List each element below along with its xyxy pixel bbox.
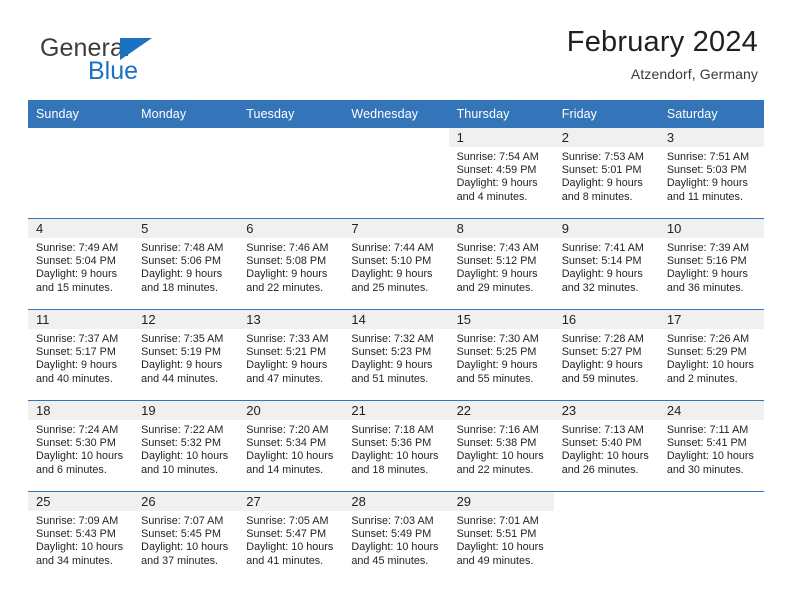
daylight-text-line2: and 22 minutes.	[457, 464, 548, 477]
day-details: Sunrise: 7:51 AMSunset: 5:03 PMDaylight:…	[659, 147, 764, 204]
calendar-day-cell[interactable]: 28Sunrise: 7:03 AMSunset: 5:49 PMDayligh…	[343, 492, 448, 582]
daylight-text-line1: Daylight: 10 hours	[351, 450, 442, 463]
day-number-band	[554, 128, 659, 147]
day-number: 13	[246, 312, 260, 328]
daylight-text-line1: Daylight: 10 hours	[246, 450, 337, 463]
sunset-text: Sunset: 5:43 PM	[36, 528, 127, 541]
day-number: 22	[457, 403, 471, 419]
calendar-day-cell[interactable]: 29Sunrise: 7:01 AMSunset: 5:51 PMDayligh…	[449, 492, 554, 582]
daylight-text-line1: Daylight: 9 hours	[457, 177, 548, 190]
sunrise-text: Sunrise: 7:46 AM	[246, 242, 337, 255]
sunset-text: Sunset: 5:41 PM	[667, 437, 758, 450]
daylight-text-line2: and 40 minutes.	[36, 373, 127, 386]
day-details: Sunrise: 7:20 AMSunset: 5:34 PMDaylight:…	[238, 420, 343, 477]
day-number-band	[133, 128, 238, 147]
day-details: Sunrise: 7:48 AMSunset: 5:06 PMDaylight:…	[133, 238, 238, 295]
calendar-week-row: 18Sunrise: 7:24 AMSunset: 5:30 PMDayligh…	[28, 400, 764, 491]
daylight-text-line1: Daylight: 10 hours	[667, 450, 758, 463]
day-details: Sunrise: 7:22 AMSunset: 5:32 PMDaylight:…	[133, 420, 238, 477]
day-details: Sunrise: 7:09 AMSunset: 5:43 PMDaylight:…	[28, 511, 133, 568]
day-number: 1	[457, 130, 464, 146]
sunset-text: Sunset: 5:06 PM	[141, 255, 232, 268]
calendar-grid: Sunday Monday Tuesday Wednesday Thursday…	[28, 100, 764, 582]
day-number: 7	[351, 221, 358, 237]
daylight-text-line2: and 26 minutes.	[562, 464, 653, 477]
sunrise-text: Sunrise: 7:18 AM	[351, 424, 442, 437]
daylight-text-line2: and 55 minutes.	[457, 373, 548, 386]
daylight-text-line1: Daylight: 9 hours	[36, 359, 127, 372]
sunrise-text: Sunrise: 7:03 AM	[351, 515, 442, 528]
day-number: 15	[457, 312, 471, 328]
sunrise-text: Sunrise: 7:05 AM	[246, 515, 337, 528]
day-number: 14	[351, 312, 365, 328]
day-details: Sunrise: 7:18 AMSunset: 5:36 PMDaylight:…	[343, 420, 448, 477]
daylight-text-line2: and 15 minutes.	[36, 282, 127, 295]
daylight-text-line2: and 34 minutes.	[36, 555, 127, 568]
day-details: Sunrise: 7:46 AMSunset: 5:08 PMDaylight:…	[238, 238, 343, 295]
daylight-text-line1: Daylight: 9 hours	[141, 268, 232, 281]
sunset-text: Sunset: 4:59 PM	[457, 164, 548, 177]
daylight-text-line2: and 2 minutes.	[667, 373, 758, 386]
daylight-text-line1: Daylight: 9 hours	[667, 177, 758, 190]
sunset-text: Sunset: 5:45 PM	[141, 528, 232, 541]
day-details: Sunrise: 7:43 AMSunset: 5:12 PMDaylight:…	[449, 238, 554, 295]
daylight-text-line2: and 41 minutes.	[246, 555, 337, 568]
day-details: Sunrise: 7:33 AMSunset: 5:21 PMDaylight:…	[238, 329, 343, 386]
daylight-text-line2: and 14 minutes.	[246, 464, 337, 477]
sunrise-text: Sunrise: 7:37 AM	[36, 333, 127, 346]
calendar-day-cell[interactable]: 21Sunrise: 7:18 AMSunset: 5:36 PMDayligh…	[343, 401, 448, 491]
calendar-day-cell[interactable]: 2Sunrise: 7:53 AMSunset: 5:01 PMDaylight…	[554, 128, 659, 218]
daylight-text-line1: Daylight: 10 hours	[562, 450, 653, 463]
daylight-text-line1: Daylight: 9 hours	[562, 268, 653, 281]
daylight-text-line1: Daylight: 10 hours	[457, 541, 548, 554]
day-details: Sunrise: 7:35 AMSunset: 5:19 PMDaylight:…	[133, 329, 238, 386]
sunset-text: Sunset: 5:36 PM	[351, 437, 442, 450]
day-number: 19	[141, 403, 155, 419]
daylight-text-line1: Daylight: 10 hours	[457, 450, 548, 463]
day-number-band	[554, 219, 659, 238]
daylight-text-line2: and 44 minutes.	[141, 373, 232, 386]
day-number: 24	[667, 403, 681, 419]
day-details: Sunrise: 7:41 AMSunset: 5:14 PMDaylight:…	[554, 238, 659, 295]
calendar-cell-empty	[238, 128, 343, 218]
sunrise-text: Sunrise: 7:41 AM	[562, 242, 653, 255]
calendar-day-cell[interactable]: 4Sunrise: 7:49 AMSunset: 5:04 PMDaylight…	[28, 219, 133, 309]
sunset-text: Sunset: 5:47 PM	[246, 528, 337, 541]
calendar-day-cell[interactable]: 26Sunrise: 7:07 AMSunset: 5:45 PMDayligh…	[133, 492, 238, 582]
calendar-day-cell[interactable]: 23Sunrise: 7:13 AMSunset: 5:40 PMDayligh…	[554, 401, 659, 491]
day-number: 26	[141, 494, 155, 510]
day-number-band	[238, 128, 343, 147]
logo-word-blue: Blue	[88, 59, 138, 84]
sunset-text: Sunset: 5:38 PM	[457, 437, 548, 450]
sunrise-text: Sunrise: 7:11 AM	[667, 424, 758, 437]
daylight-text-line1: Daylight: 9 hours	[141, 359, 232, 372]
daylight-text-line2: and 59 minutes.	[562, 373, 653, 386]
day-number: 29	[457, 494, 471, 510]
daylight-text-line1: Daylight: 9 hours	[246, 268, 337, 281]
daylight-text-line2: and 37 minutes.	[141, 555, 232, 568]
sunset-text: Sunset: 5:25 PM	[457, 346, 548, 359]
day-number: 4	[36, 221, 43, 237]
daylight-text-line1: Daylight: 9 hours	[36, 268, 127, 281]
calendar-cell-empty	[28, 128, 133, 218]
sunset-text: Sunset: 5:40 PM	[562, 437, 653, 450]
day-number-band	[133, 219, 238, 238]
daylight-text-line2: and 18 minutes.	[351, 464, 442, 477]
daylight-text-line1: Daylight: 9 hours	[457, 359, 548, 372]
sunrise-text: Sunrise: 7:01 AM	[457, 515, 548, 528]
calendar-day-cell[interactable]: 20Sunrise: 7:20 AMSunset: 5:34 PMDayligh…	[238, 401, 343, 491]
calendar-day-cell[interactable]: 9Sunrise: 7:41 AMSunset: 5:14 PMDaylight…	[554, 219, 659, 309]
page-subtitle: Atzendorf, Germany	[567, 66, 758, 82]
sunset-text: Sunset: 5:32 PM	[141, 437, 232, 450]
calendar-cell-empty	[133, 128, 238, 218]
day-number-band	[343, 128, 448, 147]
daylight-text-line2: and 29 minutes.	[457, 282, 548, 295]
day-details: Sunrise: 7:26 AMSunset: 5:29 PMDaylight:…	[659, 329, 764, 386]
day-details: Sunrise: 7:13 AMSunset: 5:40 PMDaylight:…	[554, 420, 659, 477]
sunset-text: Sunset: 5:49 PM	[351, 528, 442, 541]
calendar-day-cell[interactable]: 12Sunrise: 7:35 AMSunset: 5:19 PMDayligh…	[133, 310, 238, 400]
calendar-day-cell[interactable]: 27Sunrise: 7:05 AMSunset: 5:47 PMDayligh…	[238, 492, 343, 582]
sunset-text: Sunset: 5:29 PM	[667, 346, 758, 359]
sunrise-text: Sunrise: 7:49 AM	[36, 242, 127, 255]
sunset-text: Sunset: 5:30 PM	[36, 437, 127, 450]
daylight-text-line2: and 10 minutes.	[141, 464, 232, 477]
sunset-text: Sunset: 5:23 PM	[351, 346, 442, 359]
calendar-day-cell[interactable]: 6Sunrise: 7:46 AMSunset: 5:08 PMDaylight…	[238, 219, 343, 309]
daylight-text-line1: Daylight: 10 hours	[36, 450, 127, 463]
generalblue-logo[interactable]: General Blue	[28, 26, 218, 88]
calendar-week-row: 1Sunrise: 7:54 AMSunset: 4:59 PMDaylight…	[28, 128, 764, 218]
daylight-text-line2: and 6 minutes.	[36, 464, 127, 477]
day-details: Sunrise: 7:49 AMSunset: 5:04 PMDaylight:…	[28, 238, 133, 295]
day-details: Sunrise: 7:16 AMSunset: 5:38 PMDaylight:…	[449, 420, 554, 477]
daylight-text-line1: Daylight: 9 hours	[457, 268, 548, 281]
day-number: 21	[351, 403, 365, 419]
daylight-text-line1: Daylight: 10 hours	[36, 541, 127, 554]
calendar-week-row: 4Sunrise: 7:49 AMSunset: 5:04 PMDaylight…	[28, 218, 764, 309]
daylight-text-line1: Daylight: 10 hours	[667, 359, 758, 372]
calendar-week-row: 11Sunrise: 7:37 AMSunset: 5:17 PMDayligh…	[28, 309, 764, 400]
sunrise-text: Sunrise: 7:16 AM	[457, 424, 548, 437]
calendar-day-cell[interactable]: 5Sunrise: 7:48 AMSunset: 5:06 PMDaylight…	[133, 219, 238, 309]
day-number-band	[343, 219, 448, 238]
sunset-text: Sunset: 5:03 PM	[667, 164, 758, 177]
sunrise-text: Sunrise: 7:32 AM	[351, 333, 442, 346]
dow-tuesday: Tuesday	[238, 100, 343, 128]
daylight-text-line2: and 51 minutes.	[351, 373, 442, 386]
daylight-text-line1: Daylight: 9 hours	[246, 359, 337, 372]
sunset-text: Sunset: 5:17 PM	[36, 346, 127, 359]
daylight-text-line1: Daylight: 10 hours	[246, 541, 337, 554]
daylight-text-line1: Daylight: 10 hours	[141, 450, 232, 463]
day-of-week-header: Sunday Monday Tuesday Wednesday Thursday…	[28, 100, 764, 128]
calendar-day-cell[interactable]: 16Sunrise: 7:28 AMSunset: 5:27 PMDayligh…	[554, 310, 659, 400]
day-number-band	[28, 128, 133, 147]
sunset-text: Sunset: 5:51 PM	[457, 528, 548, 541]
daylight-text-line1: Daylight: 9 hours	[562, 359, 653, 372]
sunrise-text: Sunrise: 7:20 AM	[246, 424, 337, 437]
calendar-day-cell[interactable]: 14Sunrise: 7:32 AMSunset: 5:23 PMDayligh…	[343, 310, 448, 400]
calendar-day-cell[interactable]: 25Sunrise: 7:09 AMSunset: 5:43 PMDayligh…	[28, 492, 133, 582]
calendar-day-cell[interactable]: 15Sunrise: 7:30 AMSunset: 5:25 PMDayligh…	[449, 310, 554, 400]
daylight-text-line2: and 8 minutes.	[562, 191, 653, 204]
sunrise-text: Sunrise: 7:13 AM	[562, 424, 653, 437]
sunset-text: Sunset: 5:12 PM	[457, 255, 548, 268]
sunrise-text: Sunrise: 7:43 AM	[457, 242, 548, 255]
day-details: Sunrise: 7:07 AMSunset: 5:45 PMDaylight:…	[133, 511, 238, 568]
calendar-page: General Blue February 2024 Atzendorf, Ge…	[0, 0, 792, 612]
calendar-day-cell[interactable]: 24Sunrise: 7:11 AMSunset: 5:41 PMDayligh…	[659, 401, 764, 491]
daylight-text-line2: and 32 minutes.	[562, 282, 653, 295]
day-number: 17	[667, 312, 681, 328]
sunrise-text: Sunrise: 7:09 AM	[36, 515, 127, 528]
sunset-text: Sunset: 5:19 PM	[141, 346, 232, 359]
sunset-text: Sunset: 5:01 PM	[562, 164, 653, 177]
sunset-text: Sunset: 5:10 PM	[351, 255, 442, 268]
day-details: Sunrise: 7:05 AMSunset: 5:47 PMDaylight:…	[238, 511, 343, 568]
day-number: 23	[562, 403, 576, 419]
day-number: 18	[36, 403, 50, 419]
day-number: 11	[36, 312, 50, 328]
day-number: 2	[562, 130, 569, 146]
day-number: 28	[351, 494, 365, 510]
daylight-text-line2: and 30 minutes.	[667, 464, 758, 477]
calendar-week-row: 25Sunrise: 7:09 AMSunset: 5:43 PMDayligh…	[28, 491, 764, 582]
calendar-cell-empty	[659, 492, 764, 582]
day-number-band	[28, 219, 133, 238]
sunrise-text: Sunrise: 7:54 AM	[457, 151, 548, 164]
sunrise-text: Sunrise: 7:33 AM	[246, 333, 337, 346]
daylight-text-line2: and 18 minutes.	[141, 282, 232, 295]
sunrise-text: Sunrise: 7:51 AM	[667, 151, 758, 164]
sunrise-text: Sunrise: 7:35 AM	[141, 333, 232, 346]
title-block: February 2024 Atzendorf, Germany	[567, 26, 764, 82]
sunrise-text: Sunrise: 7:30 AM	[457, 333, 548, 346]
calendar-day-cell[interactable]: 19Sunrise: 7:22 AMSunset: 5:32 PMDayligh…	[133, 401, 238, 491]
day-number: 10	[667, 221, 681, 237]
day-number: 6	[246, 221, 253, 237]
sunrise-text: Sunrise: 7:44 AM	[351, 242, 442, 255]
sunset-text: Sunset: 5:14 PM	[562, 255, 653, 268]
day-details: Sunrise: 7:28 AMSunset: 5:27 PMDaylight:…	[554, 329, 659, 386]
sunrise-text: Sunrise: 7:48 AM	[141, 242, 232, 255]
day-number: 9	[562, 221, 569, 237]
dow-monday: Monday	[133, 100, 238, 128]
calendar-day-cell[interactable]: 1Sunrise: 7:54 AMSunset: 4:59 PMDaylight…	[449, 128, 554, 218]
daylight-text-line1: Daylight: 10 hours	[351, 541, 442, 554]
day-number: 16	[562, 312, 576, 328]
calendar-day-cell[interactable]: 3Sunrise: 7:51 AMSunset: 5:03 PMDaylight…	[659, 128, 764, 218]
day-details: Sunrise: 7:11 AMSunset: 5:41 PMDaylight:…	[659, 420, 764, 477]
dow-wednesday: Wednesday	[343, 100, 448, 128]
daylight-text-line1: Daylight: 10 hours	[141, 541, 232, 554]
dow-saturday: Saturday	[659, 100, 764, 128]
sunrise-text: Sunrise: 7:07 AM	[141, 515, 232, 528]
daylight-text-line2: and 22 minutes.	[246, 282, 337, 295]
sunrise-text: Sunrise: 7:26 AM	[667, 333, 758, 346]
calendar-day-cell[interactable]: 17Sunrise: 7:26 AMSunset: 5:29 PMDayligh…	[659, 310, 764, 400]
day-number: 25	[36, 494, 50, 510]
day-number-band	[659, 492, 764, 511]
calendar-day-cell[interactable]: 8Sunrise: 7:43 AMSunset: 5:12 PMDaylight…	[449, 219, 554, 309]
sunset-text: Sunset: 5:21 PM	[246, 346, 337, 359]
day-number-band	[238, 219, 343, 238]
calendar-day-cell[interactable]: 11Sunrise: 7:37 AMSunset: 5:17 PMDayligh…	[28, 310, 133, 400]
day-details: Sunrise: 7:54 AMSunset: 4:59 PMDaylight:…	[449, 147, 554, 204]
calendar-cell-empty	[343, 128, 448, 218]
sunrise-text: Sunrise: 7:22 AM	[141, 424, 232, 437]
calendar-cell-empty	[554, 492, 659, 582]
day-details: Sunrise: 7:44 AMSunset: 5:10 PMDaylight:…	[343, 238, 448, 295]
day-details: Sunrise: 7:53 AMSunset: 5:01 PMDaylight:…	[554, 147, 659, 204]
day-number-band	[449, 219, 554, 238]
dow-thursday: Thursday	[449, 100, 554, 128]
daylight-text-line1: Daylight: 9 hours	[562, 177, 653, 190]
daylight-text-line2: and 45 minutes.	[351, 555, 442, 568]
calendar-weeks: 1Sunrise: 7:54 AMSunset: 4:59 PMDaylight…	[28, 128, 764, 582]
day-number-band	[659, 128, 764, 147]
daylight-text-line1: Daylight: 9 hours	[351, 359, 442, 372]
day-details: Sunrise: 7:39 AMSunset: 5:16 PMDaylight:…	[659, 238, 764, 295]
sunset-text: Sunset: 5:34 PM	[246, 437, 337, 450]
sunset-text: Sunset: 5:04 PM	[36, 255, 127, 268]
day-number: 3	[667, 130, 674, 146]
day-details: Sunrise: 7:24 AMSunset: 5:30 PMDaylight:…	[28, 420, 133, 477]
day-number: 20	[246, 403, 260, 419]
dow-sunday: Sunday	[28, 100, 133, 128]
day-details: Sunrise: 7:32 AMSunset: 5:23 PMDaylight:…	[343, 329, 448, 386]
calendar-day-cell[interactable]: 10Sunrise: 7:39 AMSunset: 5:16 PMDayligh…	[659, 219, 764, 309]
daylight-text-line1: Daylight: 9 hours	[667, 268, 758, 281]
page-masthead: General Blue February 2024 Atzendorf, Ge…	[28, 0, 764, 88]
sunrise-text: Sunrise: 7:53 AM	[562, 151, 653, 164]
sunrise-text: Sunrise: 7:28 AM	[562, 333, 653, 346]
daylight-text-line2: and 47 minutes.	[246, 373, 337, 386]
sunset-text: Sunset: 5:08 PM	[246, 255, 337, 268]
day-number: 12	[141, 312, 155, 328]
daylight-text-line2: and 11 minutes.	[667, 191, 758, 204]
calendar-day-cell[interactable]: 13Sunrise: 7:33 AMSunset: 5:21 PMDayligh…	[238, 310, 343, 400]
day-details: Sunrise: 7:30 AMSunset: 5:25 PMDaylight:…	[449, 329, 554, 386]
page-title: February 2024	[567, 26, 758, 59]
calendar-day-cell[interactable]: 22Sunrise: 7:16 AMSunset: 5:38 PMDayligh…	[449, 401, 554, 491]
calendar-day-cell[interactable]: 18Sunrise: 7:24 AMSunset: 5:30 PMDayligh…	[28, 401, 133, 491]
day-number: 5	[141, 221, 148, 237]
daylight-text-line1: Daylight: 9 hours	[351, 268, 442, 281]
daylight-text-line2: and 36 minutes.	[667, 282, 758, 295]
sunset-text: Sunset: 5:16 PM	[667, 255, 758, 268]
sunrise-text: Sunrise: 7:24 AM	[36, 424, 127, 437]
day-details: Sunrise: 7:03 AMSunset: 5:49 PMDaylight:…	[343, 511, 448, 568]
sunset-text: Sunset: 5:27 PM	[562, 346, 653, 359]
daylight-text-line2: and 49 minutes.	[457, 555, 548, 568]
daylight-text-line2: and 25 minutes.	[351, 282, 442, 295]
day-number-band	[449, 128, 554, 147]
daylight-text-line2: and 4 minutes.	[457, 191, 548, 204]
sunrise-text: Sunrise: 7:39 AM	[667, 242, 758, 255]
calendar-day-cell[interactable]: 7Sunrise: 7:44 AMSunset: 5:10 PMDaylight…	[343, 219, 448, 309]
day-number: 27	[246, 494, 260, 510]
day-details: Sunrise: 7:01 AMSunset: 5:51 PMDaylight:…	[449, 511, 554, 568]
day-details: Sunrise: 7:37 AMSunset: 5:17 PMDaylight:…	[28, 329, 133, 386]
day-number: 8	[457, 221, 464, 237]
dow-friday: Friday	[554, 100, 659, 128]
day-number-band	[554, 492, 659, 511]
